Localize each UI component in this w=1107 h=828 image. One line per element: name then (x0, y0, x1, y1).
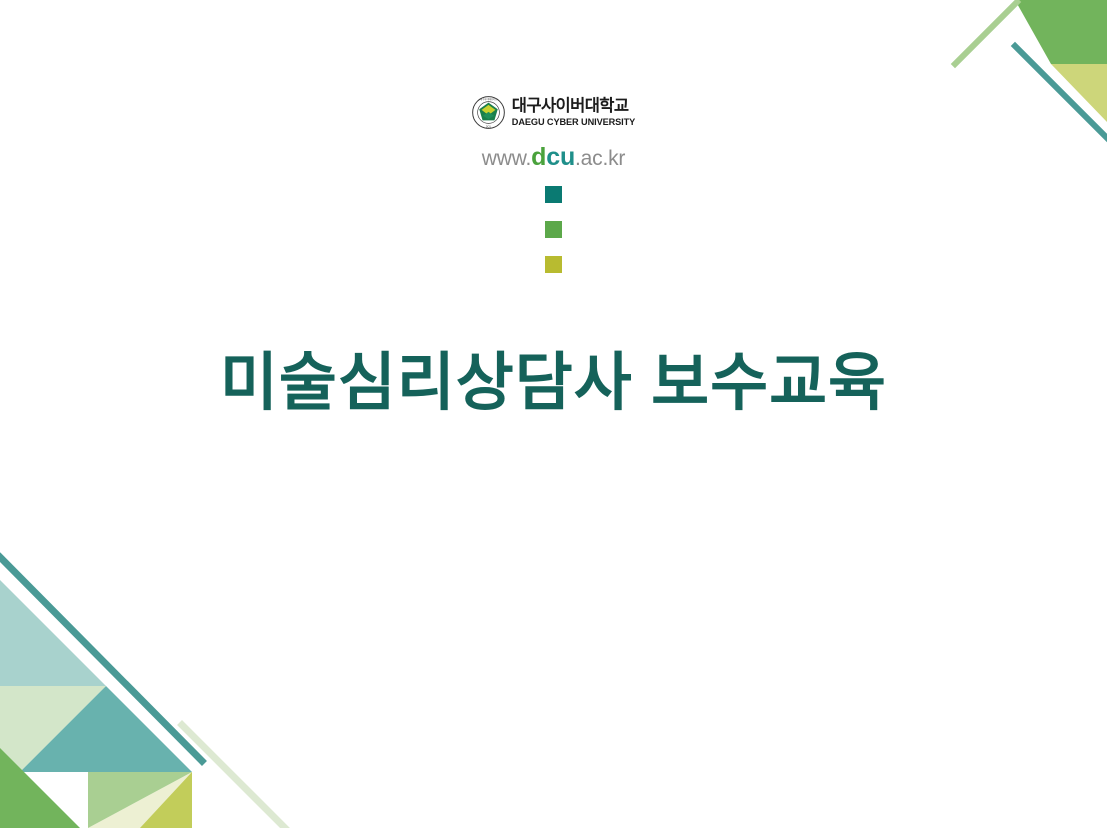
url-letters-cu: cu (546, 143, 575, 171)
logo-wordmark: 대구사이버대학교 DAEGU CYBER UNIVERSITY (512, 98, 635, 127)
light-green-diagonal-line (955, 2, 1017, 64)
university-website-url[interactable]: www.dcu.ac.kr (482, 143, 625, 172)
university-name-korean: 대구사이버대학교 (512, 98, 635, 115)
green-square (545, 221, 562, 238)
page-title: 미술심리상담사 보수교육 (220, 348, 887, 419)
light-teal-triangle (0, 580, 106, 686)
bottom-left-corner-decoration (0, 543, 295, 828)
url-letter-d: d (531, 143, 546, 171)
decorative-square-stack (0, 186, 1107, 273)
olive-square (545, 256, 562, 273)
university-name-english: DAEGU CYBER UNIVERSITY (512, 118, 635, 127)
teal-diagonal-line (0, 551, 202, 761)
pale-green-diagonal-line (182, 725, 290, 828)
url-suffix: .ac.kr (575, 147, 625, 170)
university-emblem-icon: 대구사이버대학교 DCU (472, 96, 505, 129)
title-container: 미술심리상담사 보수교육 (0, 306, 1107, 461)
medium-teal-triangle (20, 686, 192, 772)
pale-olive-triangle (88, 772, 192, 828)
university-logo-block: 대구사이버대학교 DCU 대구사이버대학교 DAEGU CYBER UNIVER… (0, 96, 1107, 172)
teal-square (545, 186, 562, 203)
url-prefix: www. (482, 147, 531, 170)
logo-lockup: 대구사이버대학교 DCU 대구사이버대학교 DAEGU CYBER UNIVER… (472, 96, 635, 129)
green-triangle (0, 748, 80, 828)
olive-triangle (140, 772, 192, 828)
light-green-triangle (0, 686, 106, 792)
green-triangle (1015, 0, 1107, 64)
green-pale-triangle (88, 772, 192, 828)
presentation-slide: 대구사이버대학교 DCU 대구사이버대학교 DAEGU CYBER UNIVER… (0, 0, 1107, 828)
svg-text:DCU: DCU (486, 126, 491, 128)
